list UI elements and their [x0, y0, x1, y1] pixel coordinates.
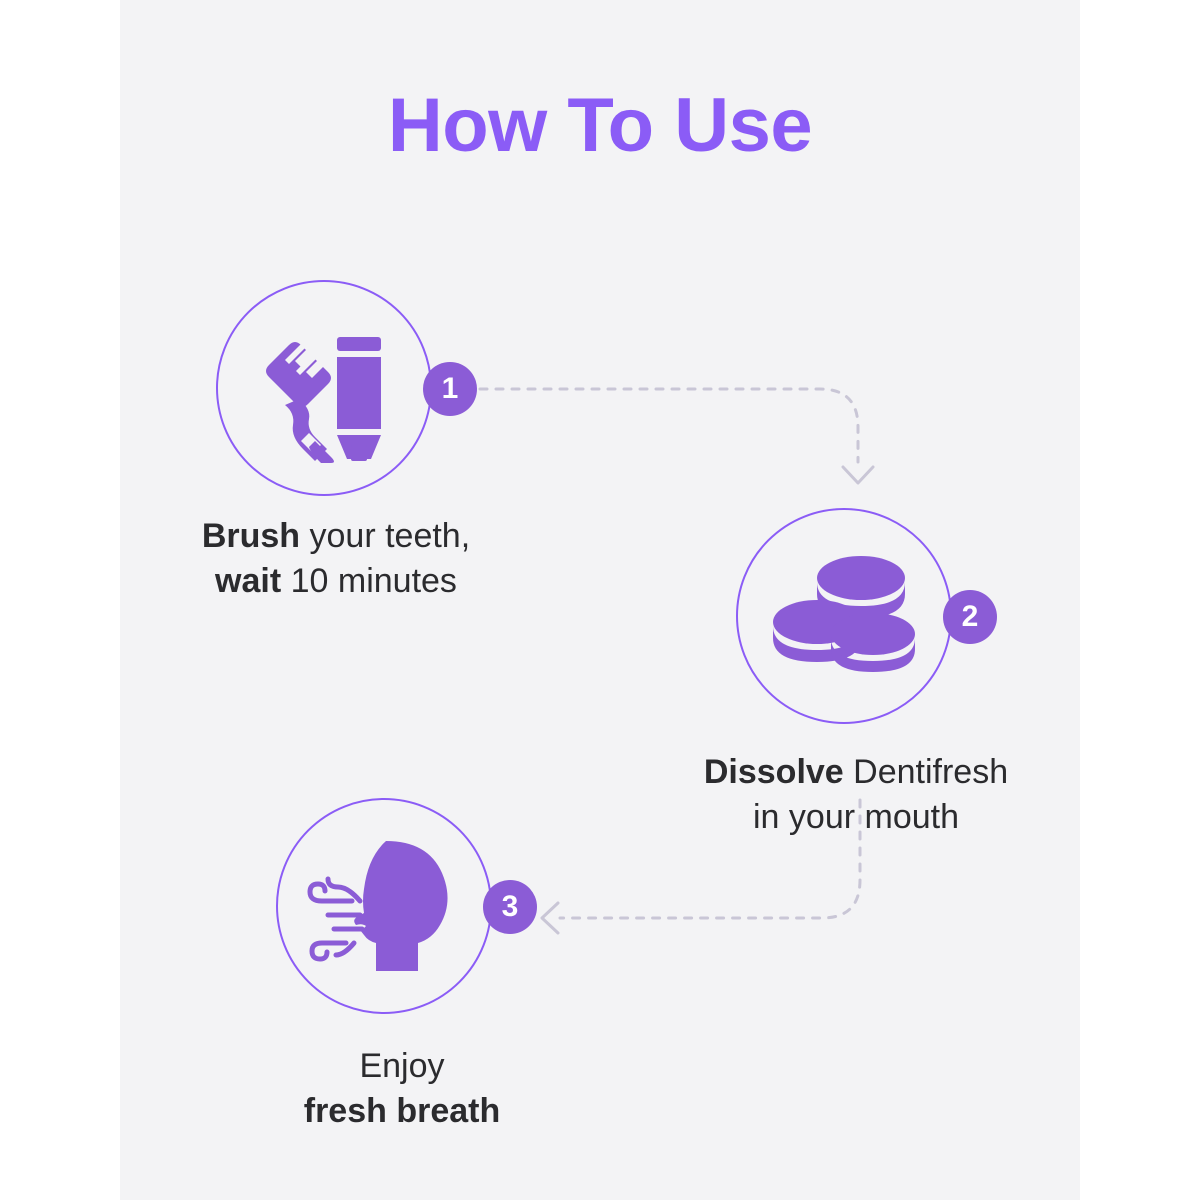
fresh-breath-head-icon: [276, 798, 492, 1014]
step-2-badge[interactable]: 2: [943, 590, 997, 644]
step-2-caption-line-2: in your mouth: [640, 795, 1072, 840]
step-1-caption: Brush your teeth, wait 10 minutes: [120, 514, 552, 604]
page-title: How To Use: [120, 84, 1080, 168]
step-3-caption-line-1: Enjoy: [186, 1044, 618, 1089]
step-3-caption: Enjoy fresh breath: [186, 1044, 618, 1134]
toothbrush-toothpaste-icon: [216, 280, 432, 496]
step-1-badge[interactable]: 1: [423, 362, 477, 416]
how-to-use-infographic: How To Use: [0, 0, 1200, 1200]
step-1-caption-line-1: Brush your teeth,: [120, 514, 552, 559]
step-3-caption-line-2: fresh breath: [186, 1089, 618, 1134]
step-3-badge[interactable]: 3: [483, 880, 537, 934]
step-2-caption: Dissolve Dentifresh in your mouth: [640, 750, 1072, 840]
step-1-caption-line-2: wait 10 minutes: [120, 559, 552, 604]
tablets-icon: [736, 508, 952, 724]
step-2-caption-line-1: Dissolve Dentifresh: [640, 750, 1072, 795]
